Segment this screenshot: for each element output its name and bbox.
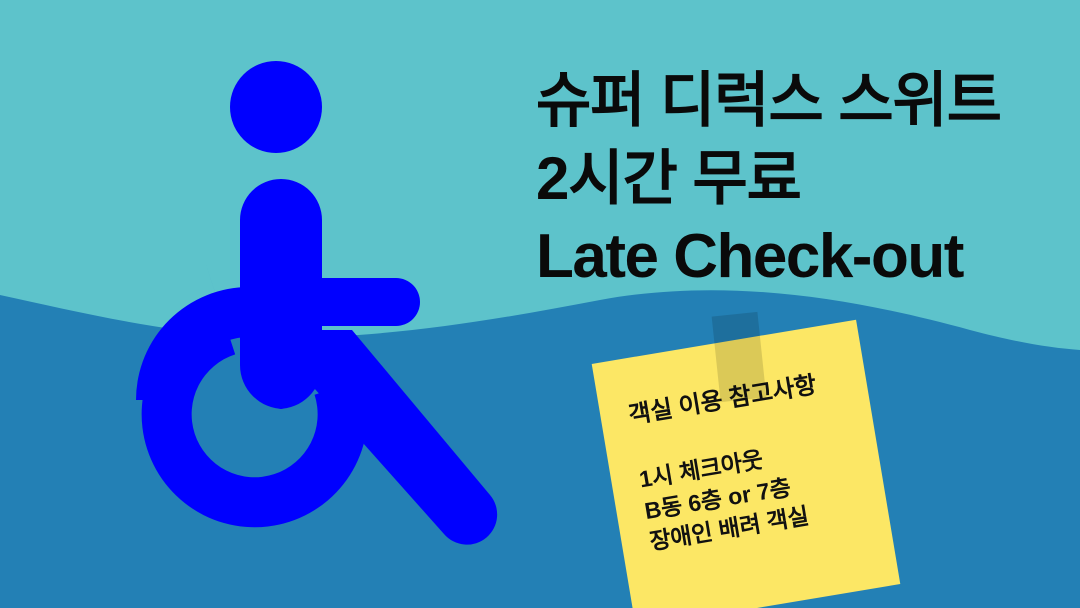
wheelchair-icon [80, 40, 550, 580]
sticky-note-group: 객실 이용 참고사항 1시 체크아웃 B동 6층 or 7층 장애인 배려 객실 [612, 330, 912, 608]
sticky-note-body: 1시 체크아웃 B동 6층 or 7층 장애인 배려 객실 [637, 425, 889, 559]
headline-line-3: Late Check-out [536, 218, 1056, 296]
sticky-note: 객실 이용 참고사항 1시 체크아웃 B동 6층 or 7층 장애인 배려 객실 [592, 320, 901, 608]
sticky-note-title: 객실 이용 참고사항 [627, 363, 868, 431]
wheelchair-arm-icon [295, 278, 420, 326]
poster-canvas: 슈퍼 디럭스 스위트 2시간 무료 Late Check-out 객실 이용 참… [0, 0, 1080, 608]
headline-line-2: 2시간 무료 [536, 140, 1056, 218]
headline-block: 슈퍼 디럭스 스위트 2시간 무료 Late Check-out [536, 62, 1056, 296]
headline-line-1: 슈퍼 디럭스 스위트 [536, 62, 1056, 140]
wheelchair-leg-icon [280, 330, 497, 545]
wheelchair-head-icon [230, 61, 322, 153]
